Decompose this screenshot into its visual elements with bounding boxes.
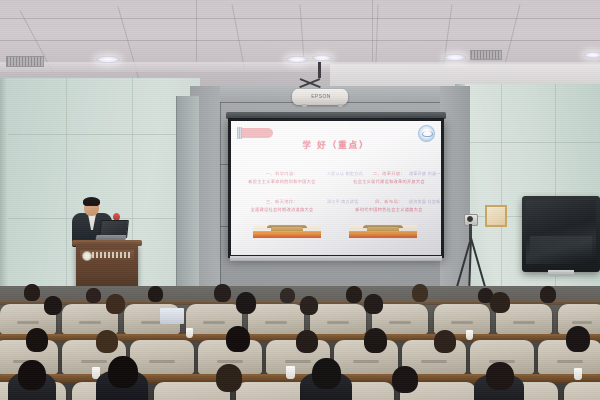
audience-head (312, 358, 341, 389)
framed-picture (485, 205, 507, 227)
paper-cup (186, 328, 193, 338)
audience-head (148, 286, 163, 302)
audience-area (0, 286, 600, 400)
audience-head (296, 330, 318, 353)
projector-foot (338, 104, 343, 107)
screen-bottom-bar (230, 256, 442, 261)
audience-head (300, 296, 318, 315)
flag-graphic-icon (237, 127, 273, 139)
audience-head (86, 288, 101, 303)
projector-brand-label: EPSON (308, 93, 334, 101)
ceiling-light-5 (584, 52, 600, 58)
projection-screen-frame: 学 好（重点） 一、科学内涵： 新民主主义革命的胜利和中国大会 人民公认 制定方… (228, 118, 444, 258)
audience-head (216, 364, 242, 392)
auditorium-seat[interactable] (564, 382, 600, 400)
audience-head (486, 362, 514, 390)
air-vent-icon (6, 56, 44, 67)
podium-nameplate-text (92, 252, 132, 258)
lecture-hall-photo: EPSON 学 好（重点） 一、科学内涵： 新民主主义革命的胜利和中国大会 人民… (0, 0, 600, 400)
side-door[interactable] (176, 96, 199, 291)
audience-head (392, 366, 418, 393)
tiananmen-illustration-left (253, 225, 321, 238)
ceiling-light-4 (444, 54, 466, 61)
audience-head (490, 292, 510, 313)
paper-cup (466, 330, 473, 340)
auditorium-seat[interactable] (130, 340, 194, 374)
air-vent-icon (470, 50, 502, 60)
slide-item-body: 全面建设社会时期改进道路大会 (239, 207, 325, 213)
audience-head (108, 356, 138, 388)
slide-note-2: 改革开放 内涵一致 (409, 171, 441, 177)
wall-corner (0, 78, 8, 308)
slide-item-3: 三、新天地作： 全面建设社会时期改进道路大会 (239, 199, 325, 213)
audience-head (214, 284, 231, 302)
auditorium-seat[interactable] (248, 304, 304, 334)
audience-head (18, 360, 46, 390)
slide-item-1: 一、科学内涵： 新民主主义革命的胜利和中国大会 (239, 171, 325, 185)
glasses-icon (85, 205, 98, 209)
audience-head (44, 296, 62, 315)
audience-head (226, 326, 250, 352)
slide-item-body: 社会主义现代建设和改革的开放大会 (343, 179, 435, 185)
tiananmen-illustration-right (349, 225, 417, 238)
institute-seal-icon (82, 251, 92, 261)
audience-head (412, 284, 428, 302)
slide-title: 学 好（重点） (231, 139, 441, 151)
audience-head (346, 286, 362, 303)
slide-item-body: 新时代中国特色社会主义道路大会 (343, 207, 435, 213)
slide-item-heading: 一、科学内涵： (239, 171, 325, 177)
ceiling-light-3 (312, 55, 332, 61)
audience-head (236, 292, 256, 314)
audience-head (364, 328, 387, 353)
audience-head (434, 330, 456, 353)
slide-item-heading: 三、新天地作： (239, 199, 325, 205)
slide-note-4: 经济发展 社会新发展趋势 (409, 199, 441, 205)
tv-reflection (530, 236, 592, 258)
paper-cup (574, 368, 582, 380)
audience-head (566, 326, 590, 352)
audience-head (106, 294, 125, 314)
audience-head (96, 330, 118, 353)
audience-head (364, 294, 383, 314)
audience-head (24, 284, 40, 301)
projection-screen: 学 好（重点） 一、科学内涵： 新民主主义革命的胜利和中国大会 人民公认 制定方… (231, 121, 441, 255)
projector-mount-pole (318, 62, 321, 78)
paper-cup (286, 366, 295, 379)
tv-stand (548, 270, 574, 276)
projector-foot (302, 104, 307, 107)
auditorium-seat[interactable] (310, 304, 366, 334)
audience-head (540, 286, 556, 303)
audience-laptop[interactable] (160, 308, 184, 324)
audience-head (26, 328, 48, 352)
ceiling-light-2 (286, 56, 308, 63)
slide-item-body: 新民主主义革命的胜利和中国大会 (239, 179, 325, 185)
ceiling-light-1 (96, 56, 120, 63)
camera-lens-icon (467, 216, 473, 222)
audience-head (280, 288, 295, 303)
